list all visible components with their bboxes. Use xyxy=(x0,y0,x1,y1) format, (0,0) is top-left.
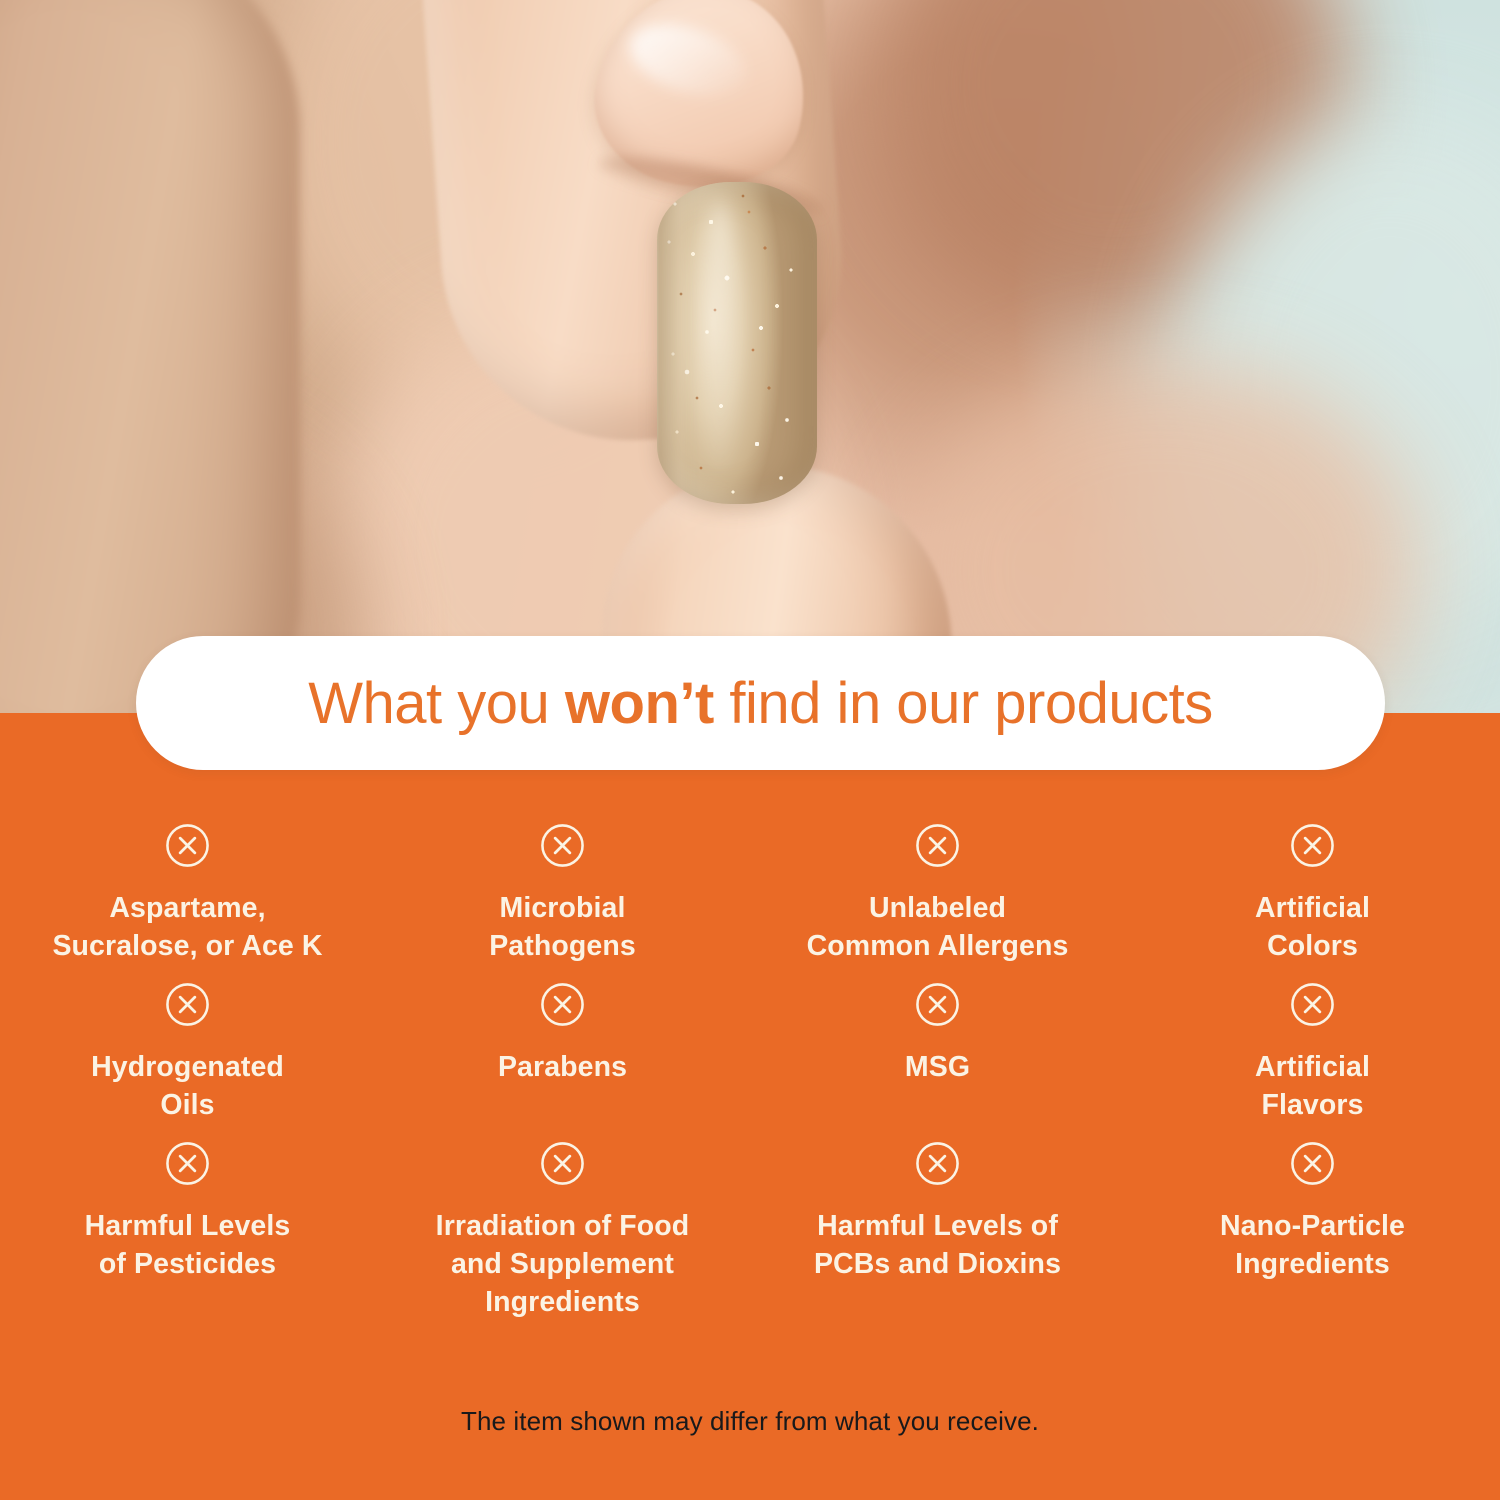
list-item-label: Microbial Pathogens xyxy=(489,890,636,965)
tablet-left-edge xyxy=(657,186,697,500)
list-item-label: Aspartame, Sucralose, or Ace K xyxy=(52,890,322,965)
list-item-label: Harmful Levels of PCBs and Dioxins xyxy=(814,1208,1061,1283)
list-item: MSG xyxy=(750,981,1125,1124)
circled-x-icon xyxy=(914,981,961,1028)
list-item: Harmful Levels of Pesticides xyxy=(0,1140,375,1321)
circled-x-icon xyxy=(914,1140,961,1187)
excluded-ingredients-grid: Aspartame, Sucralose, or Ace K Microbial… xyxy=(0,822,1500,1321)
circled-x-icon xyxy=(1289,1140,1336,1187)
supplement-tablet xyxy=(657,182,817,504)
list-item-label: Artificial Colors xyxy=(1255,890,1370,965)
circled-x-icon xyxy=(164,981,211,1028)
list-item-label: Unlabeled Common Allergens xyxy=(807,890,1069,965)
list-item: Nano-Particle Ingredients xyxy=(1125,1140,1500,1321)
list-item-label: Irradiation of Food and Supplement Ingre… xyxy=(436,1208,690,1321)
tablet-body xyxy=(657,182,817,504)
list-item: Microbial Pathogens xyxy=(375,822,750,965)
circled-x-icon xyxy=(1289,981,1336,1028)
page-title: What you won’t find in our products xyxy=(308,670,1212,737)
circled-x-icon xyxy=(914,822,961,869)
list-item-label: MSG xyxy=(905,1049,970,1087)
headline-part-2: find in our products xyxy=(714,671,1213,736)
infographic-page: What you won’t find in our products Aspa… xyxy=(0,0,1500,1500)
headline-emphasis: won’t xyxy=(565,671,714,736)
disclaimer-text: The item shown may differ from what you … xyxy=(0,1406,1500,1437)
list-item-label: Parabens xyxy=(498,1049,627,1087)
list-item: Parabens xyxy=(375,981,750,1124)
list-item-label: Nano-Particle Ingredients xyxy=(1220,1208,1405,1283)
list-item: Artificial Flavors xyxy=(1125,981,1500,1124)
list-item-label: Artificial Flavors xyxy=(1255,1049,1370,1124)
list-item-label: Harmful Levels of Pesticides xyxy=(85,1208,291,1283)
circled-x-icon xyxy=(1289,822,1336,869)
headline-part-1: What you xyxy=(308,671,565,736)
list-item: Irradiation of Food and Supplement Ingre… xyxy=(375,1140,750,1321)
circled-x-icon xyxy=(164,1140,211,1187)
list-item: Artificial Colors xyxy=(1125,822,1500,965)
tablet-highlight xyxy=(703,200,737,470)
list-item: Hydrogenated Oils xyxy=(0,981,375,1124)
background-finger xyxy=(0,0,300,722)
circled-x-icon xyxy=(539,822,586,869)
list-item: Harmful Levels of PCBs and Dioxins xyxy=(750,1140,1125,1321)
list-item: Aspartame, Sucralose, or Ace K xyxy=(0,822,375,965)
circled-x-icon xyxy=(539,981,586,1028)
circled-x-icon xyxy=(164,822,211,869)
headline-pill: What you won’t find in our products xyxy=(136,636,1385,770)
list-item: Unlabeled Common Allergens xyxy=(750,822,1125,965)
circled-x-icon xyxy=(539,1140,586,1187)
list-item-label: Hydrogenated Oils xyxy=(91,1049,284,1124)
hand-holding-tablet-photo xyxy=(0,0,1500,722)
